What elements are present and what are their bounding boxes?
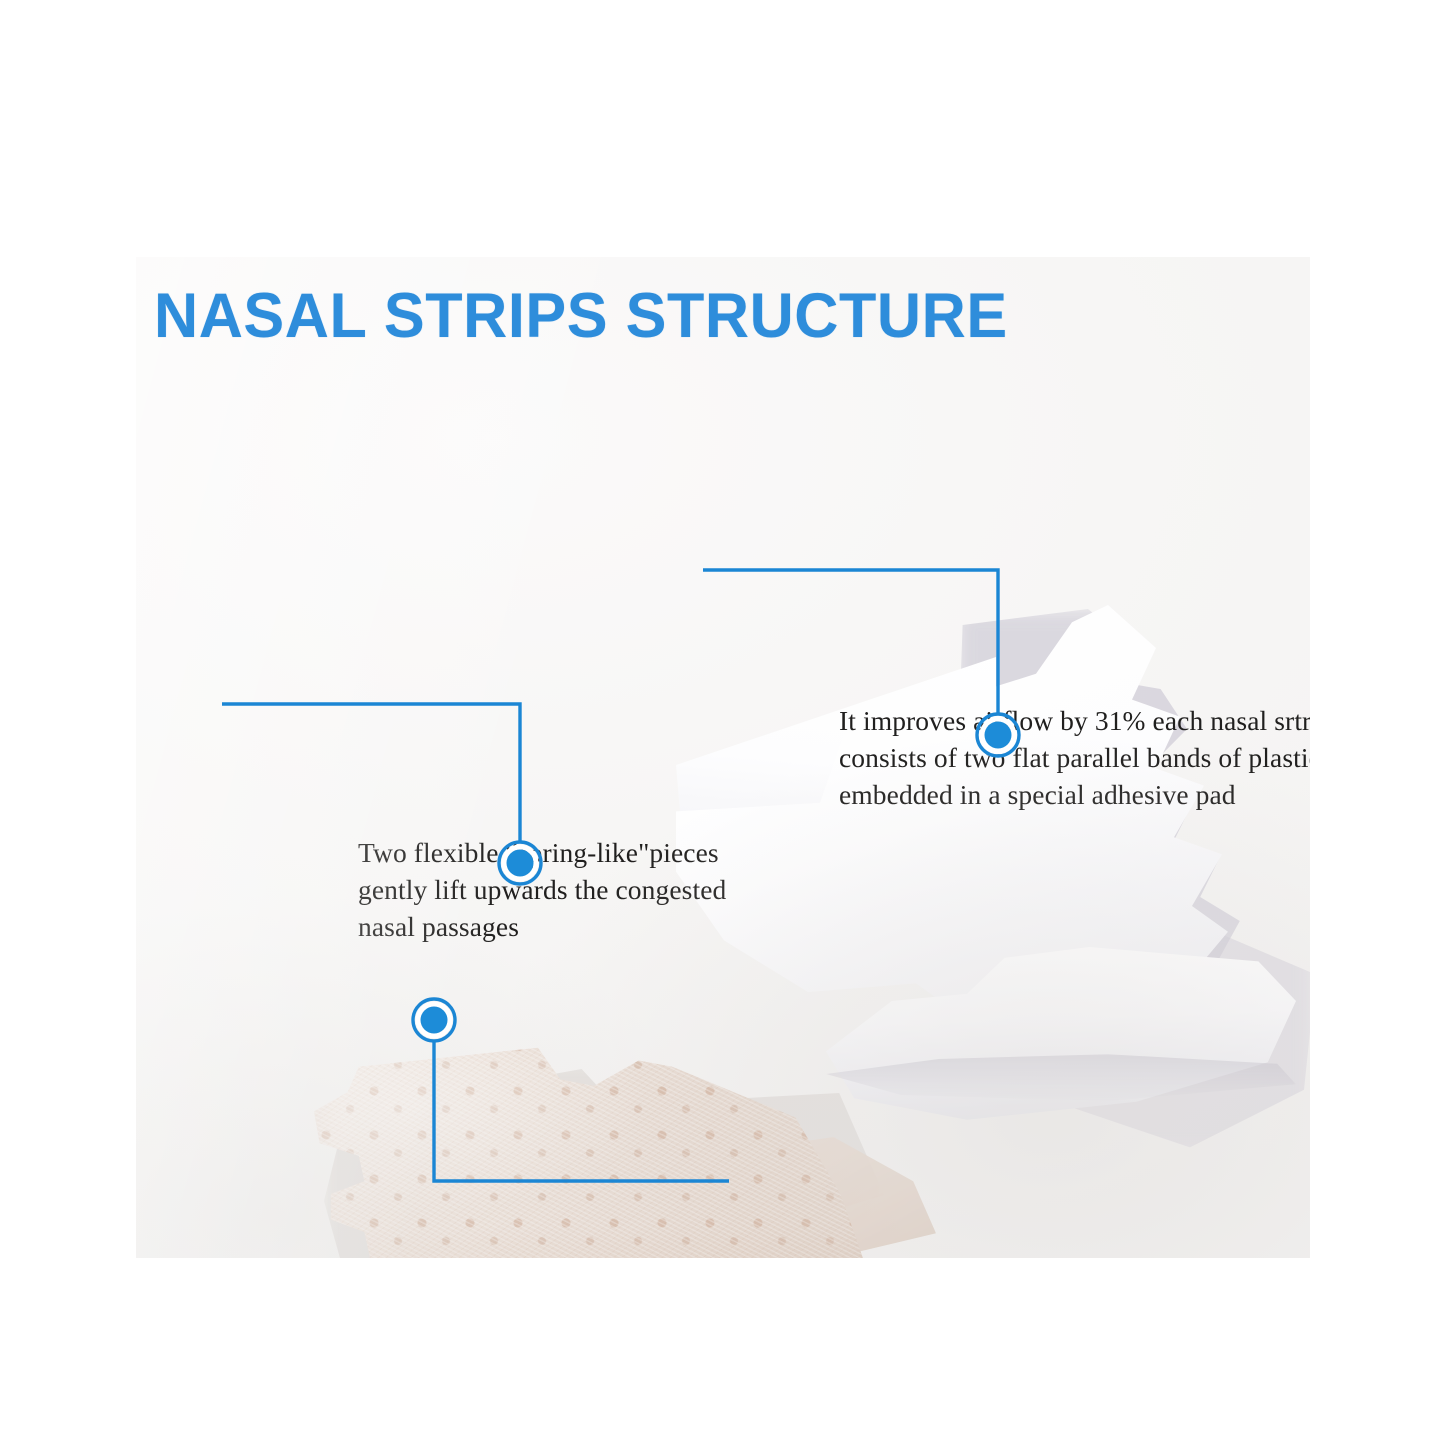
page-title: NASAL STRIPS STRUCTURE (154, 285, 1008, 348)
tan-nonwoven-adhesive-pad (314, 1035, 874, 1258)
callout-text-airflow: It improves airflow by 31% each nasal sr… (839, 703, 1310, 814)
page-frame: It improves airflow by 31% each nasal sr… (0, 0, 1445, 1445)
callout-text-spring-pieces: Two flexible “spring-like"pieces gently … (358, 835, 778, 946)
infographic-panel: It improves airflow by 31% each nasal sr… (136, 257, 1310, 1258)
